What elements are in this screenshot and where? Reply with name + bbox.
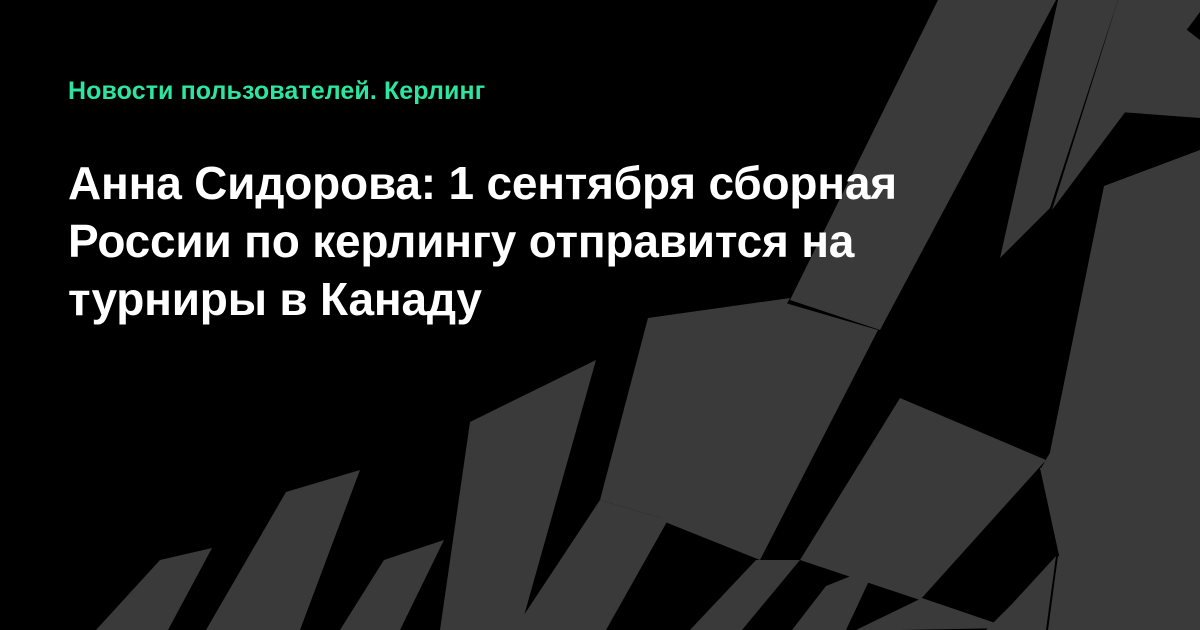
card-headline: Анна Сидорова: 1 сентября сборная России… <box>68 106 998 328</box>
card-content: Новости пользователей. Керлинг Анна Сидо… <box>0 0 1200 328</box>
social-share-card: Новости пользователей. Керлинг Анна Сидо… <box>0 0 1200 630</box>
card-kicker: Новости пользователей. Керлинг <box>68 0 1132 106</box>
